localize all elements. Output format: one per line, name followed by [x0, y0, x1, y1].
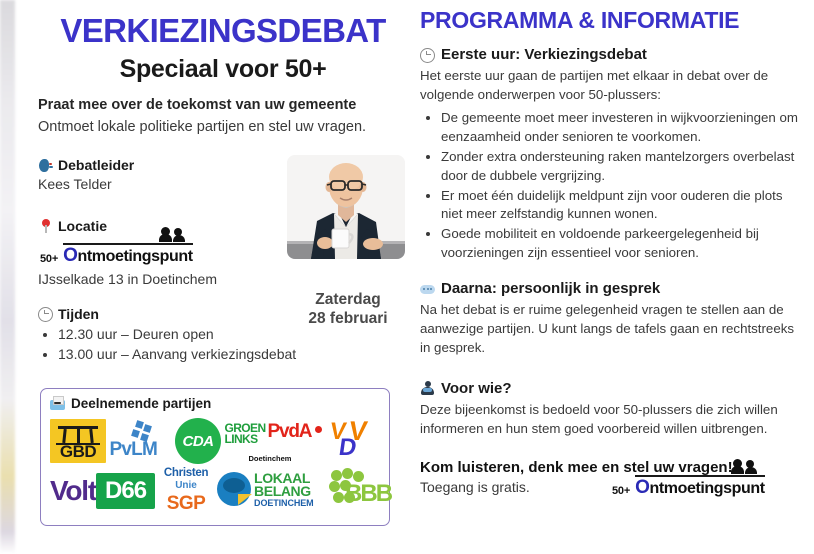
- party-logo-cu-line2: Unie: [155, 480, 217, 491]
- debate-topics-list: De gemeente moet meer investeren in wijk…: [420, 109, 800, 263]
- rose-icon: [315, 426, 322, 433]
- party-logo-groenlinks-pvda: GROEN LINKS PvdA Doetinchem: [225, 418, 325, 464]
- party-logo-cda-label: CDA: [183, 433, 214, 450]
- lead-text: Ontmoet lokale politieke partijen en ste…: [38, 118, 408, 138]
- event-day: Zaterdag: [298, 290, 398, 309]
- parties-logo-row-2: Volt D66 Christen Unie SGP LOKAAL BELANG…: [50, 468, 380, 514]
- right-column: PROGRAMMA & INFORMATIE Eerste uur: Verki…: [420, 8, 800, 495]
- party-logo-d66-label: D66: [105, 477, 146, 504]
- first-hour-body: Het eerste uur gaan de partijen met elka…: [420, 67, 800, 105]
- party-logo-lb-line2: BELANG: [254, 484, 311, 498]
- location-heading: Locatie: [58, 218, 107, 234]
- venue-logo-rest: ntmoetingspunt: [77, 248, 192, 265]
- list-item: Er moet één duidelijk meldpunt zijn voor…: [441, 187, 800, 225]
- page-title: VERKIEZINGSDEBAT: [38, 14, 408, 48]
- footer-logo-rest: ntmoetingspunt: [649, 480, 764, 497]
- location-address: IJsselkade 13 in Doetinchem: [38, 270, 408, 289]
- venue-logo-word: Ontmoetingspunt: [63, 248, 193, 265]
- party-logo-gbd-label: GBD: [50, 442, 106, 462]
- list-item: 13.00 uur – Aanvang verkiezingsdebat: [58, 345, 408, 364]
- event-date-value: 28 februari: [298, 309, 398, 328]
- party-logo-pvda-label: PvdA: [268, 421, 312, 443]
- conversation-heading: Daarna: persoonlijk in gesprek: [441, 280, 660, 298]
- conversation-body: Na het debat is er ruime gelegenheid vra…: [420, 301, 800, 358]
- programme-section-conversation: Daarna: persoonlijk in gesprek Na het de…: [420, 280, 800, 358]
- footer-venue-logo: 50+ Ontmoetingspunt: [612, 478, 765, 498]
- party-logo-christenunie-sgp: Christen Unie SGP: [155, 468, 217, 514]
- footer-logo-o: O: [635, 477, 649, 498]
- event-date: Zaterdag 28 februari: [298, 290, 398, 329]
- party-logo-pvlm-label: PvLM: [110, 439, 157, 461]
- page-edge-gradient: [0, 0, 15, 554]
- list-item: Goede mobiliteit en voldoende parkeergel…: [441, 225, 800, 263]
- party-logo-pvlm: PvLM: [110, 419, 172, 463]
- party-logo-gbd: GBD: [50, 419, 106, 463]
- person-icon: [420, 381, 435, 396]
- clock-icon: [420, 48, 435, 63]
- parties-heading: Deelnemende partijen: [71, 396, 211, 411]
- page-subtitle: Speciaal voor 50+: [38, 56, 408, 82]
- party-logo-cda: CDA: [175, 418, 221, 464]
- party-logo-sgp-label: SGP: [155, 493, 217, 515]
- party-logo-d66: D66: [96, 473, 155, 509]
- party-logo-vvd: V V D: [328, 418, 380, 464]
- audience-heading: Voor wie?: [441, 380, 512, 398]
- party-logo-gl-city: Doetinchem: [249, 454, 292, 463]
- poster-page: VERKIEZINGSDEBAT Speciaal voor 50+ Praat…: [0, 0, 814, 554]
- first-hour-heading-row: Eerste uur: Verkiezingsdebat: [420, 46, 800, 64]
- two-people-icon: [731, 459, 761, 474]
- participating-parties-box: Deelnemende partijen GBD PvLM CDA: [40, 388, 390, 526]
- party-logo-bbb: BBB: [329, 468, 403, 514]
- footer-logo-word: Ontmoetingspunt: [635, 480, 765, 497]
- party-logo-lokaal-belang: LOKAAL BELANG DOETINCHEM: [217, 468, 329, 514]
- map-pin-icon: [38, 219, 53, 234]
- two-people-icon: [159, 227, 189, 242]
- times-list: 12.30 uur – Deuren open 13.00 uur – Aanv…: [38, 325, 408, 364]
- list-item: De gemeente moet meer investeren in wijk…: [441, 109, 800, 147]
- party-logo-gl-line2: LINKS: [225, 434, 266, 445]
- audience-heading-row: Voor wie?: [420, 380, 800, 398]
- party-logo-bbb-label: BBB: [345, 482, 391, 506]
- lead-bold-text: Praat mee over de toekomst van uw gemeen…: [38, 96, 408, 115]
- party-logo-volt-label: Volt: [50, 477, 96, 505]
- speech-bubble-icon: [420, 282, 435, 297]
- programme-section-first-hour: Eerste uur: Verkiezingsdebat Het eerste …: [420, 46, 800, 263]
- party-logo-vvd-d: D: [337, 436, 358, 460]
- programme-title: PROGRAMMA & INFORMATIE: [420, 8, 800, 33]
- first-hour-heading: Eerste uur: Verkiezingsdebat: [441, 46, 647, 64]
- parties-heading-row: Deelnemende partijen: [50, 396, 380, 411]
- times-heading: Tijden: [58, 306, 99, 322]
- programme-section-audience: Voor wie? Deze bijeenkomst is bedoeld vo…: [420, 380, 800, 439]
- speaking-head-icon: [38, 158, 53, 173]
- party-logo-cu-line1: Christen: [155, 468, 217, 480]
- venue-logo-prefix: 50+: [40, 253, 58, 266]
- moderator-photo: [287, 155, 405, 259]
- conversation-heading-row: Daarna: persoonlijk in gesprek: [420, 280, 800, 298]
- party-logo-lb-line3: DOETINCHEM: [254, 498, 314, 508]
- clock-icon: [38, 307, 53, 322]
- party-logo-volt: Volt: [50, 477, 96, 505]
- list-item: Zonder extra ondersteuning raken mantelz…: [441, 148, 800, 186]
- moderator-heading: Debatleider: [58, 157, 134, 173]
- footer-logo-rule: [635, 475, 765, 477]
- venue-logo-rule: [63, 243, 193, 245]
- venue-logo-o: O: [63, 245, 77, 266]
- audience-body: Deze bijeenkomst is bedoeld voor 50-plus…: [420, 401, 800, 439]
- parties-logo-row-1: GBD PvLM CDA GROEN LIN: [50, 418, 380, 464]
- ballot-box-icon: [50, 396, 65, 411]
- footer-logo-prefix: 50+: [612, 485, 630, 498]
